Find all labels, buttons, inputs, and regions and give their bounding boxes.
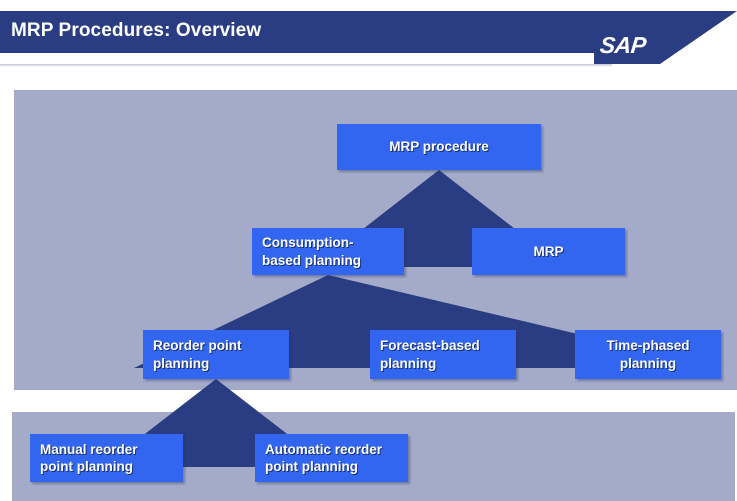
node-label-line2: point planning	[265, 458, 358, 475]
node-time-phased-planning[interactable]: Time-phased planning	[575, 330, 721, 379]
node-label-line2: planning	[380, 355, 436, 372]
node-label-line2: planning	[153, 355, 209, 372]
node-mrp-procedure[interactable]: MRP procedure	[337, 124, 541, 170]
node-manual-reorder-point-planning[interactable]: Manual reorder point planning	[30, 434, 183, 482]
node-label-line2: point planning	[40, 458, 133, 475]
node-forecast-based-planning[interactable]: Forecast-based planning	[370, 330, 516, 379]
node-mrp[interactable]: MRP	[472, 228, 625, 275]
node-automatic-reorder-point-planning[interactable]: Automatic reorder point planning	[255, 434, 408, 482]
node-label-line2: based planning	[262, 252, 361, 269]
node-label-line1: Automatic reorder	[265, 441, 382, 458]
node-label-line2: planning	[620, 355, 676, 372]
page-title: MRP Procedures: Overview	[11, 20, 261, 42]
node-label-line1: Consumption-	[262, 234, 353, 251]
node-label-line1: Time-phased	[606, 337, 689, 354]
sap-logo: SAP	[594, 11, 737, 64]
sap-logo-text: SAP	[599, 34, 647, 57]
node-reorder-point-planning[interactable]: Reorder point planning	[143, 330, 289, 379]
header-shadow	[0, 64, 612, 67]
node-label-line1: MRP	[534, 243, 564, 260]
slide-header: MRP Procedures: Overview SAP	[0, 11, 737, 53]
node-label-line1: Manual reorder	[40, 441, 138, 458]
node-consumption-based-planning[interactable]: Consumption- based planning	[252, 228, 404, 275]
node-label-line1: MRP procedure	[389, 138, 489, 155]
sap-logo-wedge-icon	[660, 11, 737, 64]
node-label-line1: Forecast-based	[380, 337, 480, 354]
node-label-line1: Reorder point	[153, 337, 242, 354]
